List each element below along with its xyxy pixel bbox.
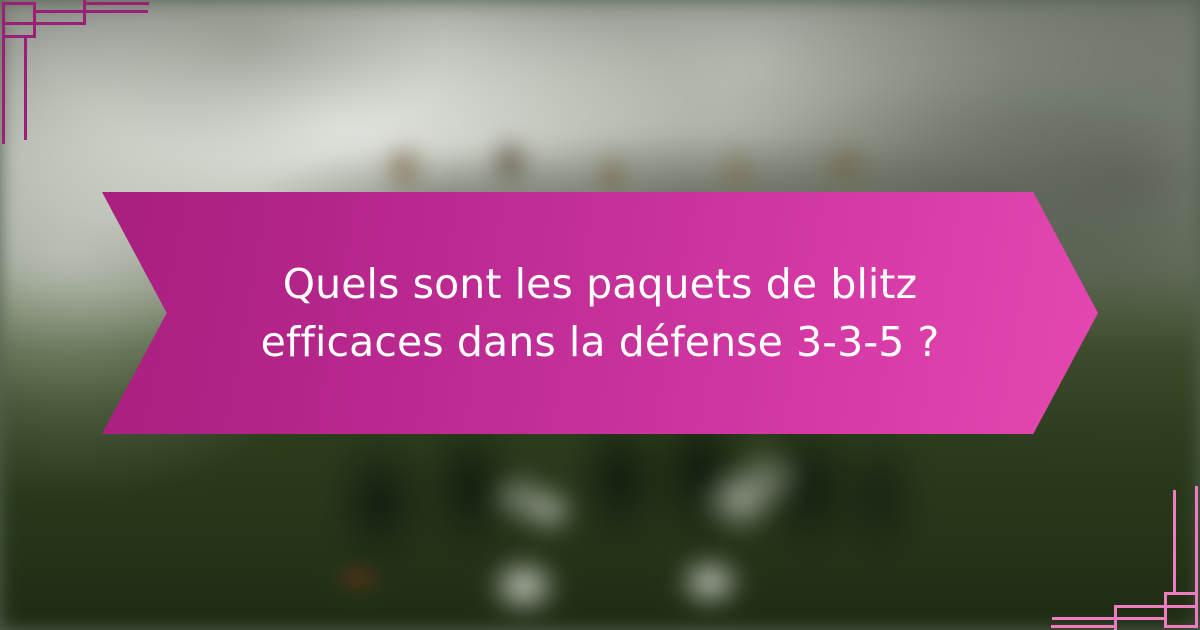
page-title: Quels sont les paquets de blitz efficace… — [205, 255, 995, 371]
headline-banner: Quels sont les paquets de blitz efficace… — [102, 192, 1098, 434]
social-card: Quels sont les paquets de blitz efficace… — [0, 0, 1200, 630]
